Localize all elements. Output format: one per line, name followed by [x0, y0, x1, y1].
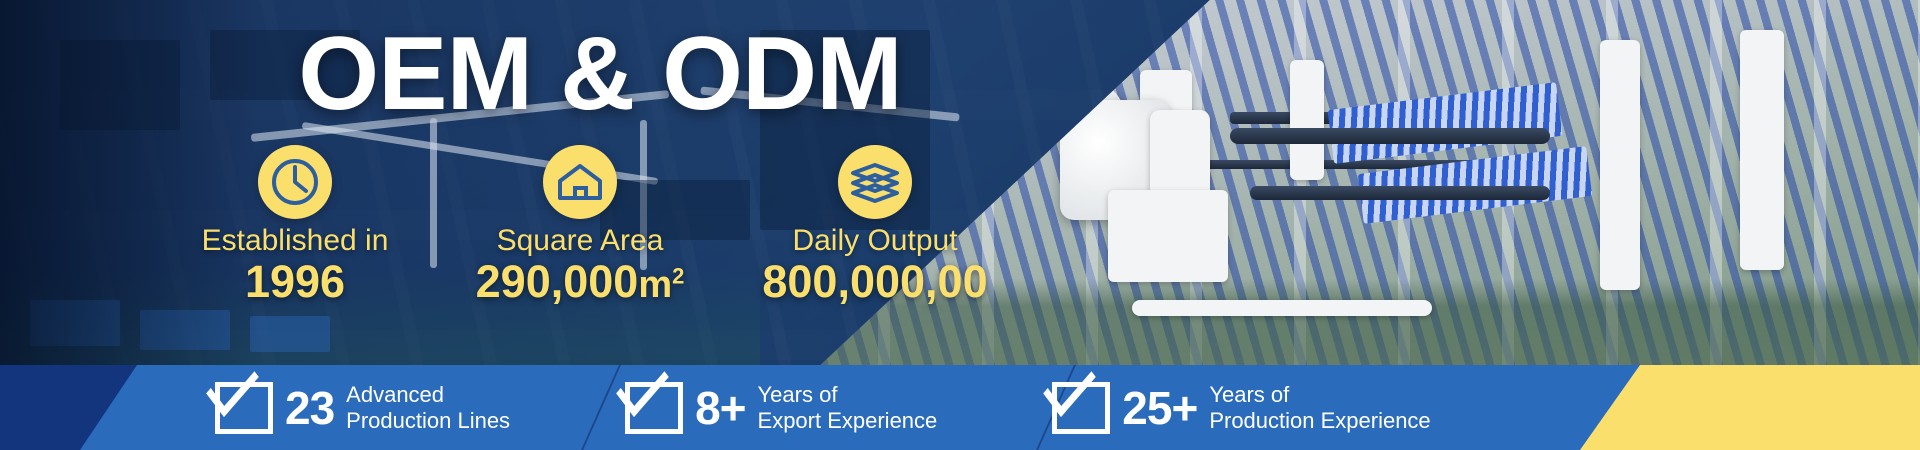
promo-banner: OEM & ODM Established in 1996 Square Are… — [0, 0, 1920, 450]
footer-item-number: 23 — [285, 385, 334, 431]
stat-established: Established in 1996 — [150, 145, 440, 305]
footer-item-production-experience: 25+ Years of Production Experience — [1052, 382, 1430, 434]
unit-base: m — [638, 264, 672, 306]
stat-square-area: Square Area 290,000m2 — [440, 145, 720, 305]
warehouse-icon — [543, 145, 617, 219]
stat-label: Square Area — [440, 225, 720, 257]
footer-item-production-lines: 23 Advanced Production Lines — [215, 382, 510, 434]
stat-value: 290,000m2 — [440, 258, 720, 306]
footer-item-line2: Production Lines — [346, 408, 510, 433]
footer-item-line2: Export Experience — [758, 408, 938, 433]
stat-value: 800,000,00 — [720, 258, 1030, 305]
stat-unit: m2 — [638, 264, 684, 306]
page-title: OEM & ODM — [280, 22, 920, 126]
footer-item-line1: Years of — [758, 382, 938, 407]
footer-item-number: 8+ — [695, 385, 745, 431]
footer-item-line1: Advanced — [346, 382, 510, 407]
stat-value: 1996 — [150, 258, 440, 305]
footer-item-export-experience: 8+ Years of Export Experience — [625, 382, 937, 434]
stats-row: Established in 1996 Square Area 290,000m… — [150, 145, 1030, 295]
stat-label: Daily Output — [720, 225, 1030, 257]
checkbox-checked-icon — [625, 382, 683, 434]
stat-daily-output: Daily Output 800,000,00 — [720, 145, 1030, 305]
footer-item-text: Advanced Production Lines — [346, 382, 510, 432]
stat-number: 290,000 — [476, 256, 639, 307]
clock-icon — [258, 145, 332, 219]
checkbox-checked-icon — [215, 382, 273, 434]
footer-item-line2: Production Experience — [1209, 408, 1430, 433]
stat-label: Established in — [150, 225, 440, 257]
footer-item-text: Years of Export Experience — [758, 382, 938, 432]
footer-item-line1: Years of — [1209, 382, 1430, 407]
footer-bar: 23 Advanced Production Lines 8+ Years of… — [0, 365, 1920, 450]
footer-item-number: 25+ — [1122, 385, 1197, 431]
checkbox-checked-icon — [1052, 382, 1110, 434]
unit-superscript: 2 — [672, 263, 684, 288]
layers-icon — [838, 145, 912, 219]
footer-item-text: Years of Production Experience — [1209, 382, 1430, 432]
